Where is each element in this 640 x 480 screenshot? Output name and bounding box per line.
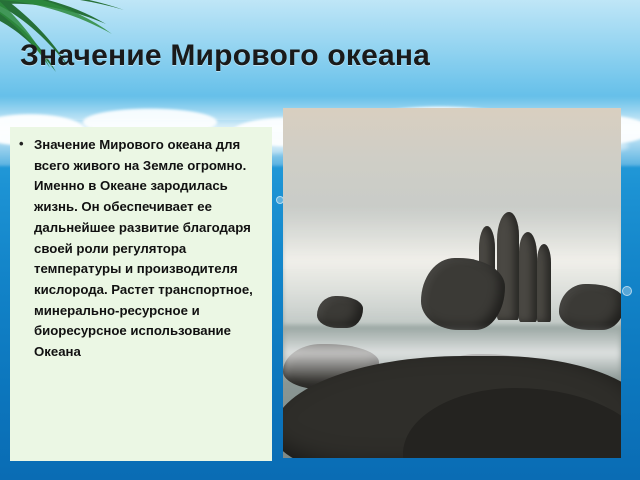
slide: Значение Мирового океана Значение Мирово… <box>0 0 640 480</box>
bubble-icon <box>622 286 632 296</box>
list-item: Значение Мирового океана для всего живог… <box>18 135 262 363</box>
photo-rock <box>421 258 505 330</box>
body-text-box: Значение Мирового океана для всего живог… <box>10 127 272 461</box>
photo-rock <box>317 296 363 328</box>
photo-rock-spire <box>519 232 537 322</box>
photo-rock <box>559 284 621 330</box>
photo-rock-spire <box>537 244 551 322</box>
bullet-list: Значение Мирового океана для всего живог… <box>18 135 262 363</box>
page-title: Значение Мирового океана <box>20 36 620 76</box>
ocean-rocks-photo <box>283 108 621 458</box>
